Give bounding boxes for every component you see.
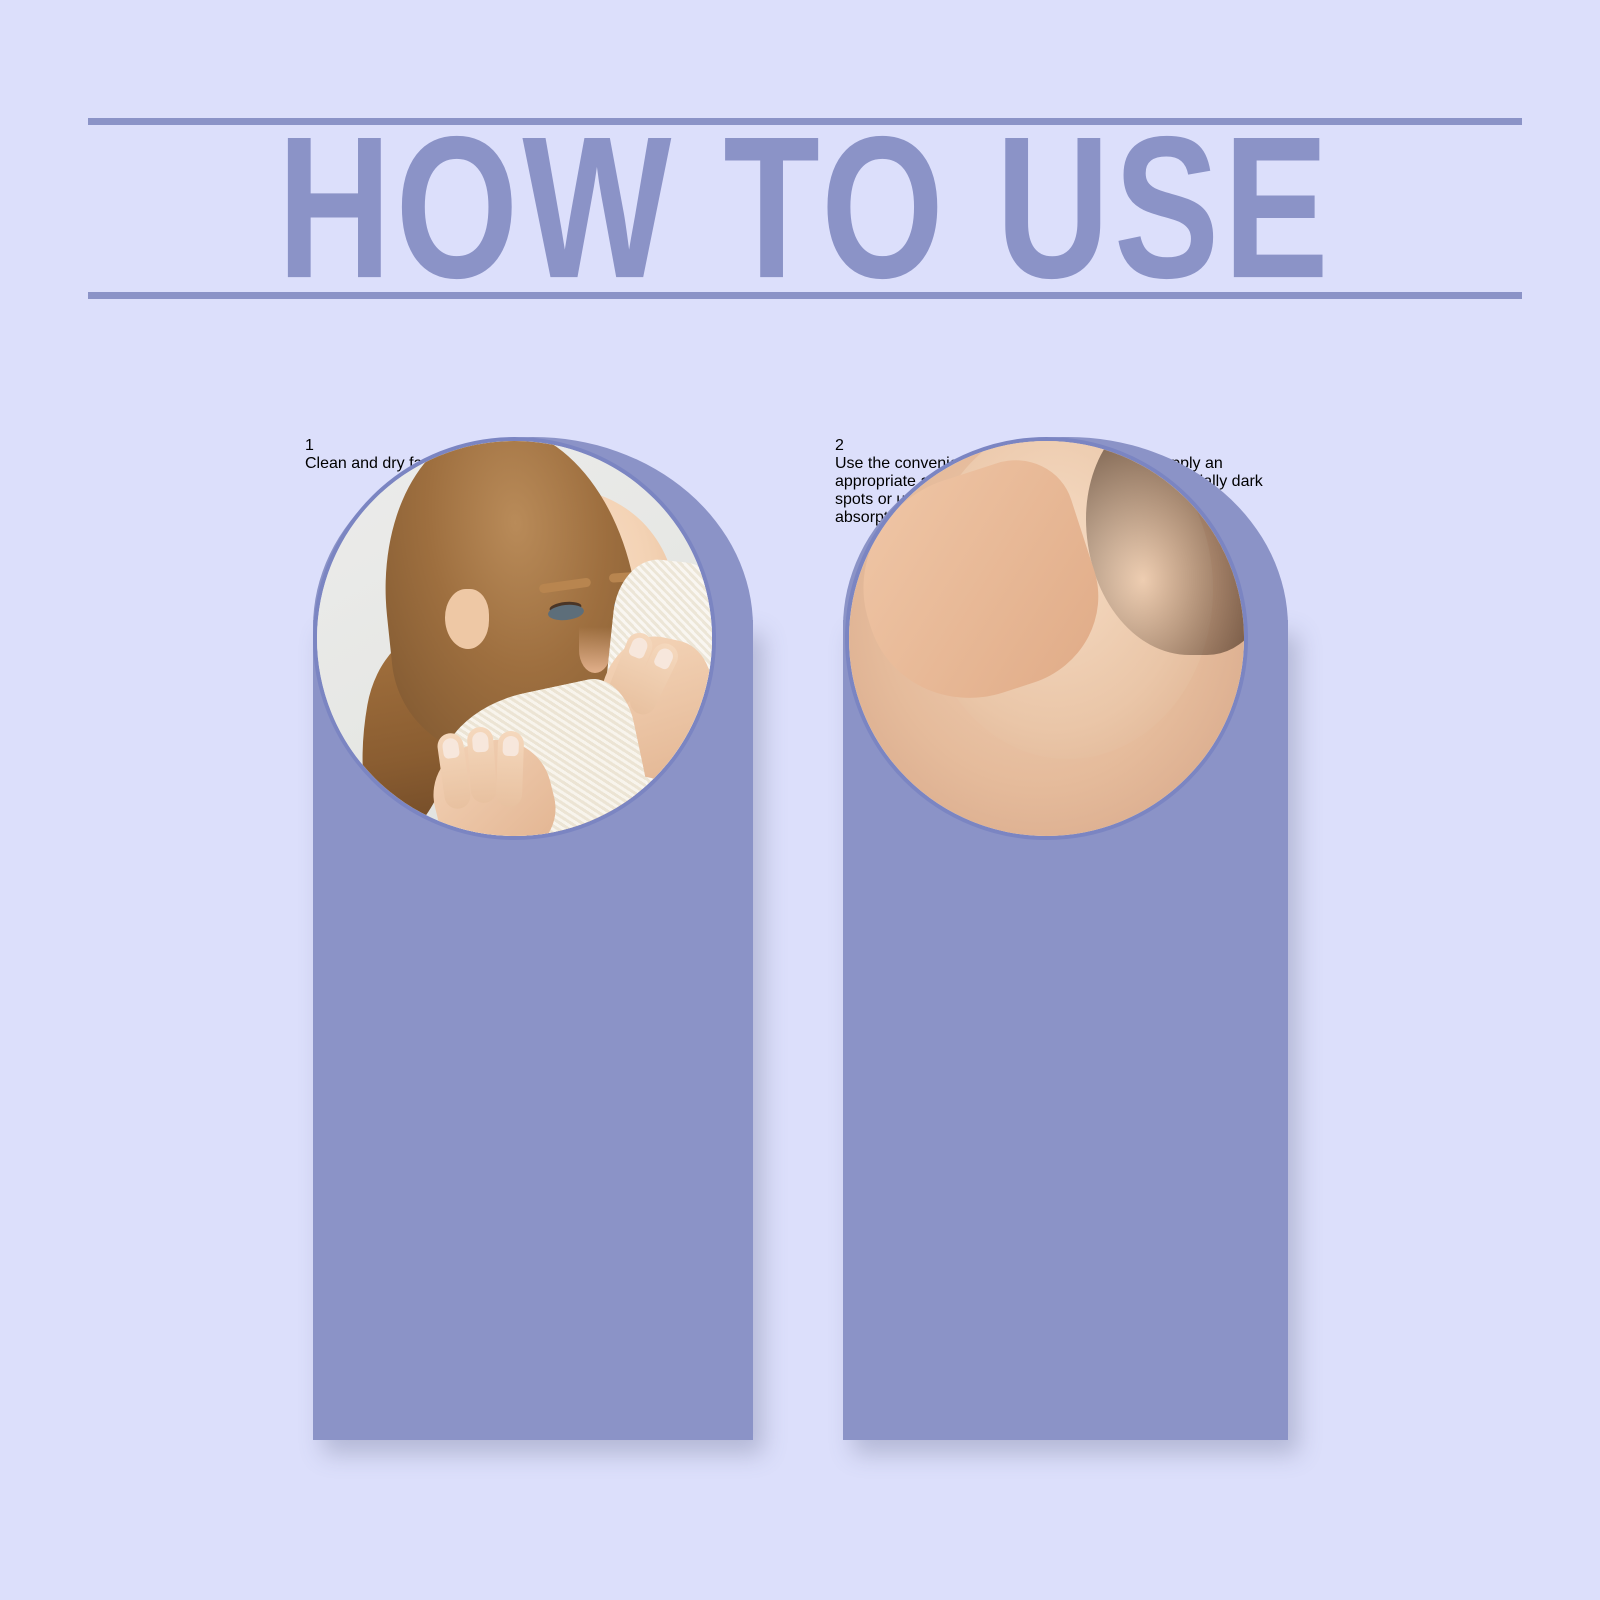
step-2-photo (845, 437, 1248, 840)
step-card-1: 1 Clean and dry facial skin (305, 437, 745, 473)
finger (466, 726, 497, 804)
steps-container: 1 Clean and dry facial skin (0, 0, 1600, 1600)
step-card-2: 2 Use the convenient roller ball design … (835, 437, 1280, 527)
ear (445, 589, 489, 649)
nose (579, 627, 611, 673)
step-2-photo-art (849, 441, 1244, 836)
step-1-photo-art (317, 441, 712, 836)
step-1-photo (313, 437, 716, 840)
finger (496, 731, 525, 808)
